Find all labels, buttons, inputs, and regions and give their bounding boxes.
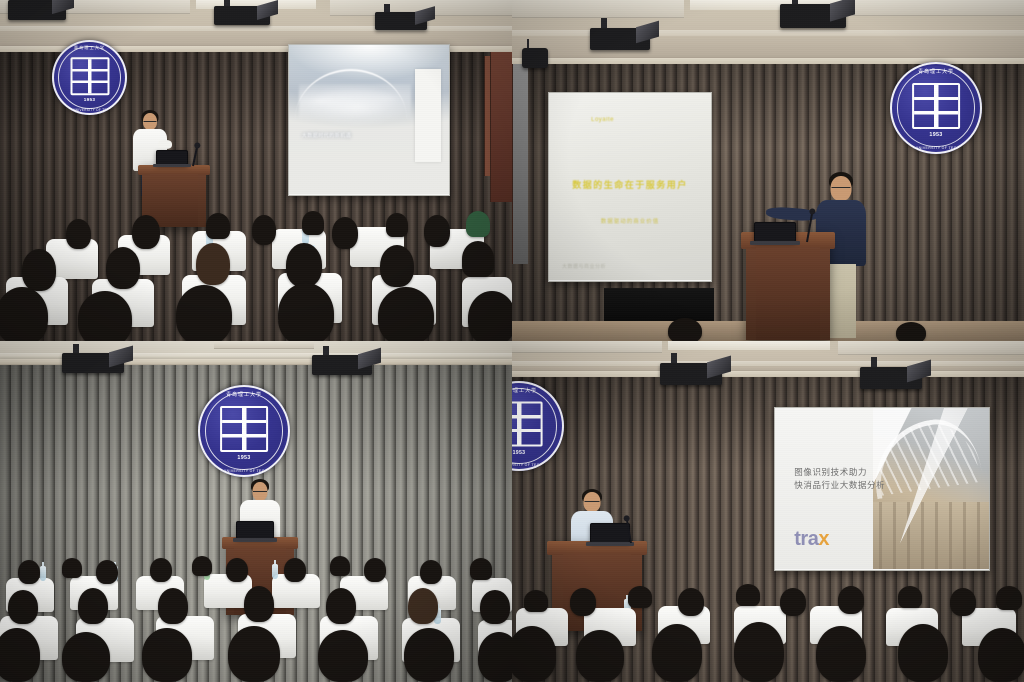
audience-head <box>470 558 492 580</box>
audience-head <box>734 622 784 682</box>
audience-head <box>898 586 922 608</box>
stage-spotlight <box>375 12 427 30</box>
slide-caption: 大数据时代的新机遇 <box>302 132 352 139</box>
stage-spotlight <box>214 6 270 25</box>
audience-head <box>196 243 230 285</box>
stage-spotlight <box>660 363 722 385</box>
audience-head <box>192 556 212 576</box>
university-emblem: 青岛理工大学 1953 QINGDAO UNIVERSITY OF TECHNO… <box>890 62 982 154</box>
audience-head <box>96 560 118 584</box>
audience-head <box>132 215 160 249</box>
laptop <box>156 150 188 165</box>
ceiling-strip <box>668 341 830 350</box>
ceiling-panel <box>512 341 662 353</box>
audience-head <box>78 291 132 341</box>
emblem-glyph <box>220 406 268 452</box>
slide-trax: 图像识别技术助力 快消品行业大数据分析 trax <box>775 408 989 570</box>
audience-head <box>816 626 866 682</box>
stage-spotlight <box>62 353 124 373</box>
audience-head <box>332 217 358 249</box>
photo-collage: 青岛理工大学 1953 QINGDAO UNIVERSITY OF TECHNO… <box>0 0 1024 682</box>
university-emblem: 青岛理工大学 1953 QINGDAO UNIVERSITY OF TECHNO… <box>52 40 127 115</box>
audience-head <box>678 588 704 616</box>
ceiling-panel <box>838 341 1024 355</box>
ceiling-panel <box>852 0 1024 16</box>
audience-head <box>462 241 494 277</box>
audience-head <box>176 285 232 341</box>
ceiling <box>512 0 1024 62</box>
emblem-year: 1953 <box>512 450 564 456</box>
ceiling-panel <box>512 0 684 18</box>
slide-title-line1: 图像识别技术助力 <box>794 466 885 479</box>
emblem-year: 1953 <box>52 97 127 102</box>
emblem-chinese-name: 青岛理工大学 <box>198 391 290 398</box>
trax-logo: trax <box>794 528 829 551</box>
slide-title-line2: 快消品行业大数据分析 <box>794 479 885 492</box>
emblem-english-name: QINGDAO UNIVERSITY OF TECHNOLOGY <box>512 463 560 467</box>
slide-side-card <box>415 69 441 162</box>
audience-head <box>318 630 368 682</box>
stage-spotlight <box>860 367 922 389</box>
ceiling-strip <box>512 30 1024 36</box>
emblem-english-name: QINGDAO UNIVERSITY OF TECHNOLOGY <box>894 146 979 150</box>
audience-head <box>150 558 172 582</box>
audience-head <box>378 287 434 341</box>
audience <box>0 191 512 341</box>
stage-spotlight <box>312 355 372 375</box>
emblem-glyph <box>912 83 960 129</box>
audience-head <box>226 558 248 582</box>
window-strip <box>512 64 528 264</box>
ceiling-strip <box>512 361 1024 366</box>
emblem-glyph <box>512 402 542 447</box>
emblem-year: 1953 <box>198 455 290 461</box>
audience-head <box>736 584 760 606</box>
audience-head <box>106 247 140 289</box>
audience-head <box>62 632 110 682</box>
audience-head <box>62 558 82 578</box>
audience-head <box>424 215 450 247</box>
audience-head <box>244 586 274 622</box>
audience-head <box>780 588 806 616</box>
water-bottle <box>272 564 278 579</box>
trax-logo-prefix: tra <box>794 528 818 550</box>
earth-clouds <box>299 84 411 126</box>
collage-panel-top-left[interactable]: 青岛理工大学 1953 QINGDAO UNIVERSITY OF TECHNO… <box>0 0 512 341</box>
emblem-glyph <box>70 57 109 95</box>
slide-logo: Loyalte <box>591 117 614 123</box>
projector-screen: Loyalte 数据的生命在于服务用户 数据驱动的商业价值 大数据与商业分析 <box>548 92 712 282</box>
slide-subtitle: 数据驱动的商业价值 <box>565 217 695 225</box>
audience-head <box>18 560 40 584</box>
emblem-chinese-name: 青岛理工大学 <box>890 68 982 75</box>
audience-head <box>652 624 702 682</box>
audience-head <box>286 243 322 287</box>
audience-head <box>252 215 276 245</box>
window-strip <box>484 56 490 176</box>
collage-panel-bottom-left[interactable]: 青岛理工大学 1953 QINGDAO UNIVERSITY OF TECHNO… <box>0 341 512 682</box>
speaker-arm <box>158 140 172 149</box>
university-emblem: 青岛理工大学 1953 QINGDAO UNIVERSITY OF TECHNO… <box>198 385 290 477</box>
audience-head <box>480 590 510 624</box>
audience <box>0 542 512 682</box>
audience-head <box>898 624 948 682</box>
audience-head <box>478 632 512 682</box>
audience-head <box>570 588 596 616</box>
laptop <box>236 521 274 539</box>
audience-head <box>468 291 512 341</box>
projector-screen: 图像识别技术助力 快消品行业大数据分析 trax <box>774 407 990 571</box>
stage-spotlight <box>522 48 548 68</box>
audience-head <box>364 558 386 582</box>
audience-head <box>278 283 334 341</box>
audience-head <box>22 249 56 291</box>
laptop <box>590 523 630 543</box>
slide-title: 图像识别技术助力 快消品行业大数据分析 <box>794 466 885 492</box>
stage-spotlight <box>8 0 66 20</box>
audience-head <box>206 213 230 239</box>
audience-head <box>512 626 556 682</box>
audience-head <box>158 588 188 624</box>
emblem-chinese-name: 青岛理工大学 <box>52 45 127 51</box>
speaker-legs <box>826 264 856 338</box>
speaker-glasses <box>144 121 157 122</box>
audience <box>512 578 1024 682</box>
audience-head <box>302 211 324 235</box>
audience-head <box>0 628 40 682</box>
audience-head <box>0 287 48 341</box>
podium <box>746 232 830 340</box>
audience-head <box>78 588 108 624</box>
speaker-glasses <box>832 187 851 188</box>
audience-head <box>380 245 414 287</box>
audience-head <box>524 590 548 612</box>
audience-head <box>284 558 306 582</box>
screen-bottom-bar <box>548 280 712 282</box>
audience-head <box>896 322 926 341</box>
slide-corner-note: 大数据与商业分析 <box>562 263 606 270</box>
projector-screen: 大数据时代的新机遇 <box>288 44 450 196</box>
audience-head <box>576 630 624 682</box>
audience-head <box>404 628 454 682</box>
audience-head <box>330 556 350 576</box>
slide-white-text: Loyalte 数据的生命在于服务用户 数据驱动的商业价值 大数据与商业分析 <box>549 93 711 281</box>
audience-head <box>628 586 652 608</box>
audience-head <box>838 586 864 614</box>
audience-head <box>66 219 91 249</box>
audience-head <box>420 560 442 584</box>
audience-head <box>228 626 280 682</box>
collage-panel-bottom-right[interactable]: 青岛理工大学 1953 QINGDAO UNIVERSITY OF TECHNO… <box>512 341 1024 682</box>
audience-head <box>142 628 192 682</box>
audience-head <box>978 628 1024 682</box>
audience-head <box>386 213 408 237</box>
ceiling-panel <box>214 341 314 349</box>
emblem-year: 1953 <box>890 132 982 138</box>
audience-head <box>408 588 438 624</box>
speaker-head <box>584 492 601 512</box>
emblem-english-name: QINGDAO UNIVERSITY OF TECHNOLOGY <box>202 469 287 473</box>
stage-spotlight <box>590 28 650 50</box>
speaker-head <box>831 176 852 201</box>
speaker-glasses <box>585 501 600 502</box>
emblem-english-name: QINGDAO UNIVERSITY OF TECHNOLOGY <box>55 108 124 112</box>
stage-spotlight <box>780 4 846 28</box>
emblem-chinese-name: 青岛理工大学 <box>512 387 564 394</box>
slide-headline: 数据的生命在于服务用户 <box>565 178 695 191</box>
audience-head <box>996 586 1022 610</box>
laptop <box>754 222 796 242</box>
water-bottle <box>40 566 46 581</box>
audience-head <box>668 318 702 341</box>
slide-earth-photo: 大数据时代的新机遇 <box>289 45 449 195</box>
audience-head <box>950 588 976 616</box>
audience-head <box>466 211 490 237</box>
audience-head <box>326 588 356 624</box>
screen-bottom-bar <box>774 569 990 571</box>
audience-head <box>8 590 38 624</box>
ceiling-strip <box>0 26 512 31</box>
window-strip <box>490 52 512 202</box>
collage-panel-top-right[interactable]: 青岛理工大学 1953 QINGDAO UNIVERSITY OF TECHNO… <box>512 0 1024 341</box>
speaker-glasses <box>253 491 267 492</box>
podium-body <box>756 247 820 340</box>
trax-logo-accent: x <box>818 528 829 550</box>
